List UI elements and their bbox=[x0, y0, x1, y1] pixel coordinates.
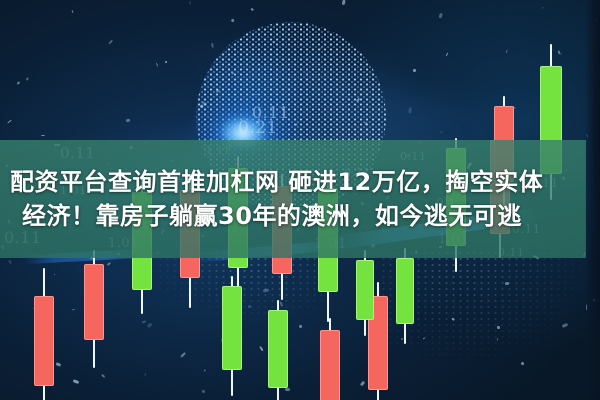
candlestick-body bbox=[356, 260, 374, 320]
candlestick-body bbox=[84, 264, 104, 340]
headline-block: 配资平台查询首推加杠网 砸进12万亿，掏空实体 经济！靠房子躺赢30年的澳洲，如… bbox=[0, 140, 600, 258]
right-edge-shadow bbox=[585, 0, 600, 400]
stock-news-banner: 0.110.210.110.111.011.011.010.110.11.110… bbox=[0, 0, 600, 400]
particle bbox=[440, 131, 443, 133]
candlestick-body bbox=[396, 258, 414, 324]
background-number: 0.11 bbox=[252, 103, 290, 122]
headline-line-1: 配资平台查询首推加杠网 砸进12万亿，掏空实体 bbox=[0, 168, 600, 196]
headline-line-2: 经济！靠房子躺赢30年的澳洲，如今逃无可逃 bbox=[0, 202, 600, 230]
particle bbox=[211, 43, 214, 48]
candlestick-body bbox=[34, 296, 54, 386]
candlestick-body bbox=[222, 286, 242, 370]
candlestick-body bbox=[268, 310, 288, 388]
particle bbox=[164, 60, 167, 63]
